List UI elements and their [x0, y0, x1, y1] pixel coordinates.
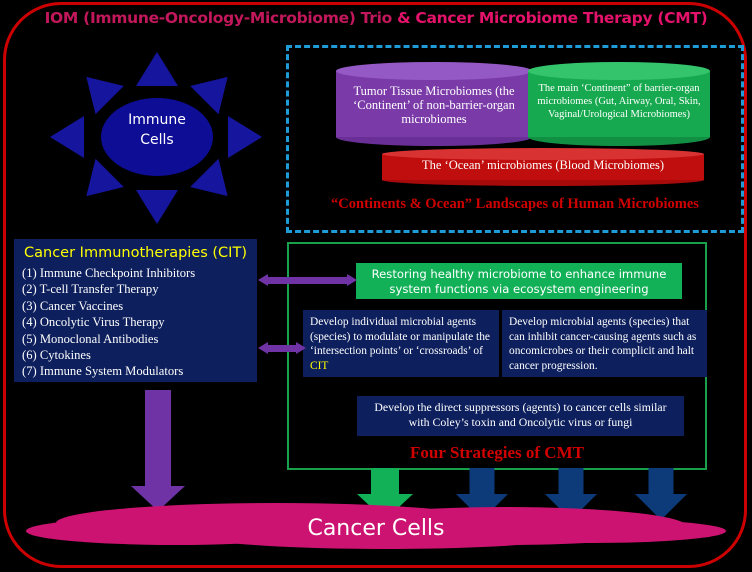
- arrow-cit-to-banner: [258, 274, 357, 287]
- arrow-shaft: [371, 468, 399, 496]
- list-item: (3) Cancer Vaccines: [22, 298, 252, 314]
- ocean-microbiomes-cylinder: The ‘Ocean’ microbiomes (Blood Microbiom…: [382, 148, 704, 186]
- strategy-box-inhibit-oncomicrobes: Develop microbial agents (species) that …: [502, 310, 707, 377]
- tumor-tissue-microbiomes-cylinder: Tumor Tissue Microbiomes (the ‘Continent…: [336, 62, 532, 146]
- list-item: (7) Immune System Modulators: [22, 363, 252, 379]
- list-item: (4) Oncolytic Virus Therapy: [22, 314, 252, 330]
- cancer-cells-label: Cancer Cells: [26, 516, 726, 541]
- arrow-shaft: [267, 277, 348, 284]
- barrier-organ-microbiomes-cylinder: The main ‘Continent” of barrier-organ mi…: [528, 62, 710, 146]
- arrow-shaft: [267, 345, 297, 352]
- strategy-left-highlight: CIT: [310, 360, 328, 372]
- list-item: (1) Immune Checkpoint Inhibitors: [22, 265, 252, 281]
- strategy-box-direct-suppressors: Develop the direct suppressors (agents) …: [357, 396, 684, 436]
- immune-spike-e: [228, 116, 262, 158]
- arrow-shaft: [145, 390, 171, 488]
- cmt-caption: Four Strategies of CMT: [287, 443, 707, 463]
- page-title: IOM (Immune-Oncology-Microbiome) Trio & …: [0, 9, 752, 27]
- immune-label-line-1: Immune: [101, 110, 213, 130]
- title-part-2: & Cancer Microbiome Therapy (CMT): [397, 9, 707, 27]
- strategy-box-intersection-points: Develop individual microbial agents (spe…: [303, 310, 499, 377]
- arrow-head-right: [296, 342, 306, 354]
- cit-title: Cancer Immunotherapies (CIT): [24, 245, 250, 261]
- landscapes-caption: “Continents & Ocean” Landscapes of Human…: [286, 196, 744, 213]
- arrow-cit-to-cancer-cells: [130, 390, 186, 510]
- immune-spike-s: [136, 190, 178, 224]
- list-item: (6) Cytokines: [22, 347, 252, 363]
- cit-list: (1) Immune Checkpoint Inhibitors (2) T-c…: [22, 265, 252, 380]
- arrow-shaft: [649, 468, 674, 496]
- immune-spike-w: [50, 116, 84, 158]
- immune-spike-ne: [190, 63, 242, 115]
- strategy-left-text: Develop individual microbial agents (spe…: [310, 316, 490, 357]
- restore-microbiome-banner: Restoring healthy microbiome to enhance …: [356, 263, 682, 299]
- immune-spike-nw: [72, 63, 124, 115]
- barrier-organ-microbiomes-label: The main ‘Continent” of barrier-organ mi…: [534, 82, 704, 121]
- immune-spike-n: [136, 52, 178, 86]
- arrow-cit-to-strategy: [258, 342, 306, 355]
- title-part-1: IOM (Immune-Oncology-Microbiome) Trio: [45, 9, 397, 27]
- cylinder-top: [336, 62, 532, 80]
- immune-spike-se: [190, 159, 242, 211]
- immune-label-line-2: Cells: [101, 130, 213, 150]
- list-item: (2) T-cell Transfer Therapy: [22, 281, 252, 297]
- diagram-canvas: IOM (Immune-Oncology-Microbiome) Trio & …: [0, 0, 752, 572]
- arrow-head-right: [347, 274, 357, 286]
- arrow-shaft: [470, 468, 495, 496]
- immune-cells-label: Immune Cells: [101, 110, 213, 150]
- immune-spike-sw: [72, 159, 124, 211]
- ocean-microbiomes-label: The ‘Ocean’ microbiomes (Blood Microbiom…: [388, 158, 698, 173]
- arrow-shaft: [559, 468, 584, 496]
- immune-cells-group: Immune Cells: [48, 50, 264, 228]
- list-item: (5) Monoclonal Antibodies: [22, 331, 252, 347]
- cylinder-top: [528, 62, 710, 80]
- tumor-tissue-microbiomes-label: Tumor Tissue Microbiomes (the ‘Continent…: [342, 84, 526, 126]
